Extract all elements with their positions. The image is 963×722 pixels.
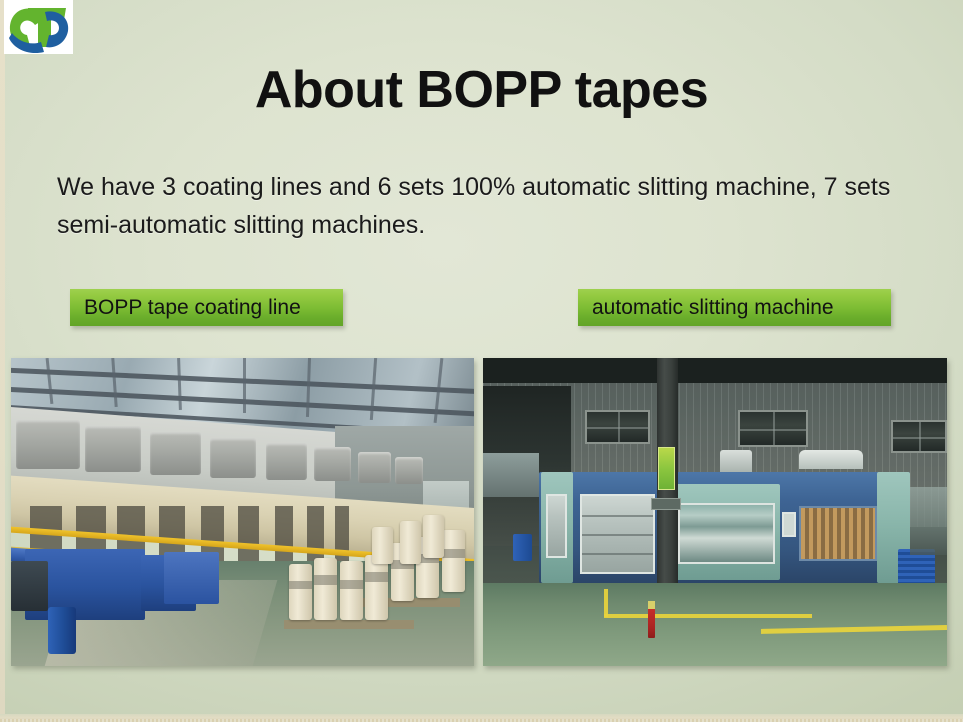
- page-title: About BOPP tapes: [0, 60, 963, 120]
- slide-canvas: About BOPP tapes We have 3 coating lines…: [0, 0, 963, 722]
- company-logo: [4, 0, 73, 54]
- caption-slitting-machine: automatic slitting machine: [578, 289, 891, 326]
- caption-coating-line-label: BOPP tape coating line: [84, 296, 301, 320]
- coating-line-photo: [11, 358, 474, 666]
- caption-slitting-machine-label: automatic slitting machine: [592, 296, 834, 320]
- coating-line-photo-content: [11, 358, 474, 666]
- body-paragraph: We have 3 coating lines and 6 sets 100% …: [57, 168, 902, 244]
- company-logo-icon: [4, 0, 73, 54]
- slitting-machine-photo-content: [483, 358, 947, 666]
- bottom-edge-strip: [0, 714, 963, 722]
- slitting-machine-photo: [483, 358, 947, 666]
- caption-coating-line: BOPP tape coating line: [70, 289, 343, 326]
